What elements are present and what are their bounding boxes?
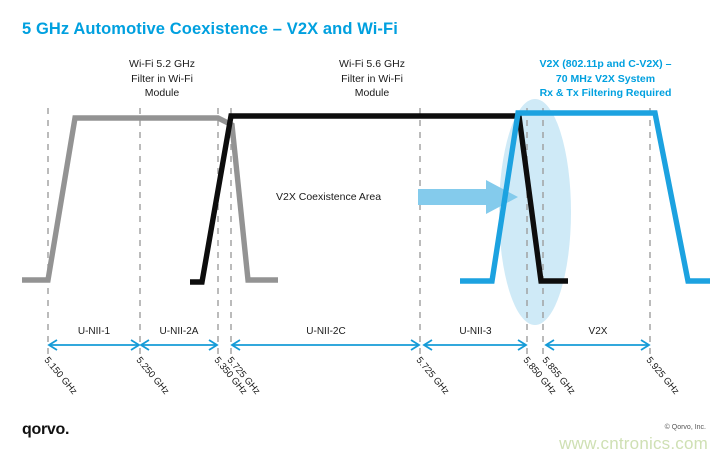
qorvo-logo: qorvo. <box>22 421 69 439</box>
coexistence-highlight-ellipse <box>499 99 571 325</box>
coexistence-chart <box>0 0 720 460</box>
band-arrow-v2x <box>546 340 649 350</box>
site-watermark: www.cntronics.com <box>559 434 708 454</box>
band-arrow-u-nii-2c <box>232 340 419 350</box>
curve-wifi-52 <box>22 118 278 280</box>
band-label-v2x: V2X <box>546 326 650 337</box>
band-arrow-u-nii-2a <box>141 340 217 350</box>
band-label-u-nii-2a: U-NII-2A <box>140 326 218 337</box>
band-label-u-nii-1: U-NII-1 <box>48 326 140 337</box>
slide-canvas: 5 GHz Automotive Coexistence – V2X and W… <box>0 0 720 460</box>
band-arrow-u-nii-3 <box>424 340 526 350</box>
band-label-u-nii-2c: U-NII-2C <box>232 326 420 337</box>
band-arrow-u-nii-1 <box>49 340 139 350</box>
band-range-arrows <box>49 340 649 350</box>
coexistence-area-label: V2X Coexistence Area <box>276 191 381 203</box>
copyright-notice: © Qorvo, Inc. <box>665 424 706 431</box>
band-label-u-nii-3: U-NII-3 <box>424 326 527 337</box>
